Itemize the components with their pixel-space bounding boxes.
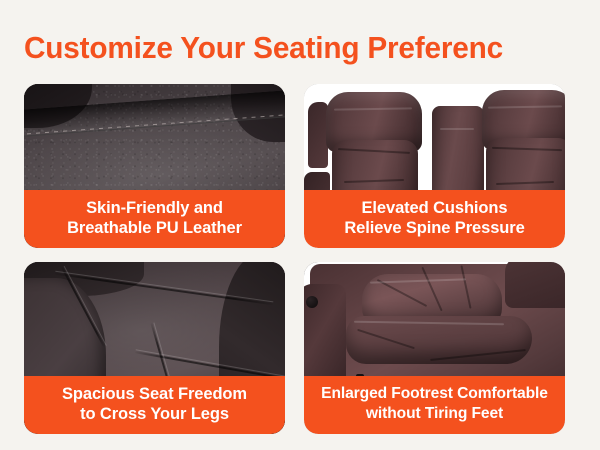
feature-label-line2: Breathable PU Leather bbox=[30, 218, 279, 238]
feature-card-grid: Skin-Friendly and Breathable PU Leather bbox=[24, 84, 577, 434]
feature-label-line1: Skin-Friendly and bbox=[86, 199, 223, 217]
feature-grid-page: Customize Your Seating Preferenc Skin-Fr… bbox=[0, 0, 600, 450]
right-backrest bbox=[505, 262, 565, 308]
feature-label-banner: Enlarged Footrest Comfortable without Ti… bbox=[304, 376, 565, 434]
feature-label-line1: Spacious Seat Freedom bbox=[62, 385, 247, 403]
feature-card-elevated-cushions[interactable]: Elevated Cushions Relieve Spine Pressure bbox=[304, 84, 565, 248]
console-highlight bbox=[440, 128, 474, 130]
feature-label-banner: Elevated Cushions Relieve Spine Pressure bbox=[304, 190, 565, 248]
feature-card-skin-friendly[interactable]: Skin-Friendly and Breathable PU Leather bbox=[24, 84, 285, 248]
feature-card-spacious-seat[interactable]: Spacious Seat Freedom to Cross Your Legs bbox=[24, 262, 285, 434]
feature-label-line2: to Cross Your Legs bbox=[30, 404, 279, 424]
armrest-control-knob bbox=[306, 296, 318, 308]
feature-label-banner: Spacious Seat Freedom to Cross Your Legs bbox=[24, 376, 285, 434]
feature-label-banner: Skin-Friendly and Breathable PU Leather bbox=[24, 190, 285, 248]
feature-label-line2: without Tiring Feet bbox=[310, 404, 559, 424]
feature-label-line1: Elevated Cushions bbox=[362, 199, 508, 217]
feature-card-enlarged-footrest[interactable]: Enlarged Footrest Comfortable without Ti… bbox=[304, 262, 565, 434]
far-left-armrest bbox=[308, 102, 328, 168]
page-title: Customize Your Seating Preferenc bbox=[24, 26, 600, 70]
feature-label-line2: Relieve Spine Pressure bbox=[310, 218, 559, 238]
feature-label-line1: Enlarged Footrest Comfortable bbox=[321, 385, 548, 402]
